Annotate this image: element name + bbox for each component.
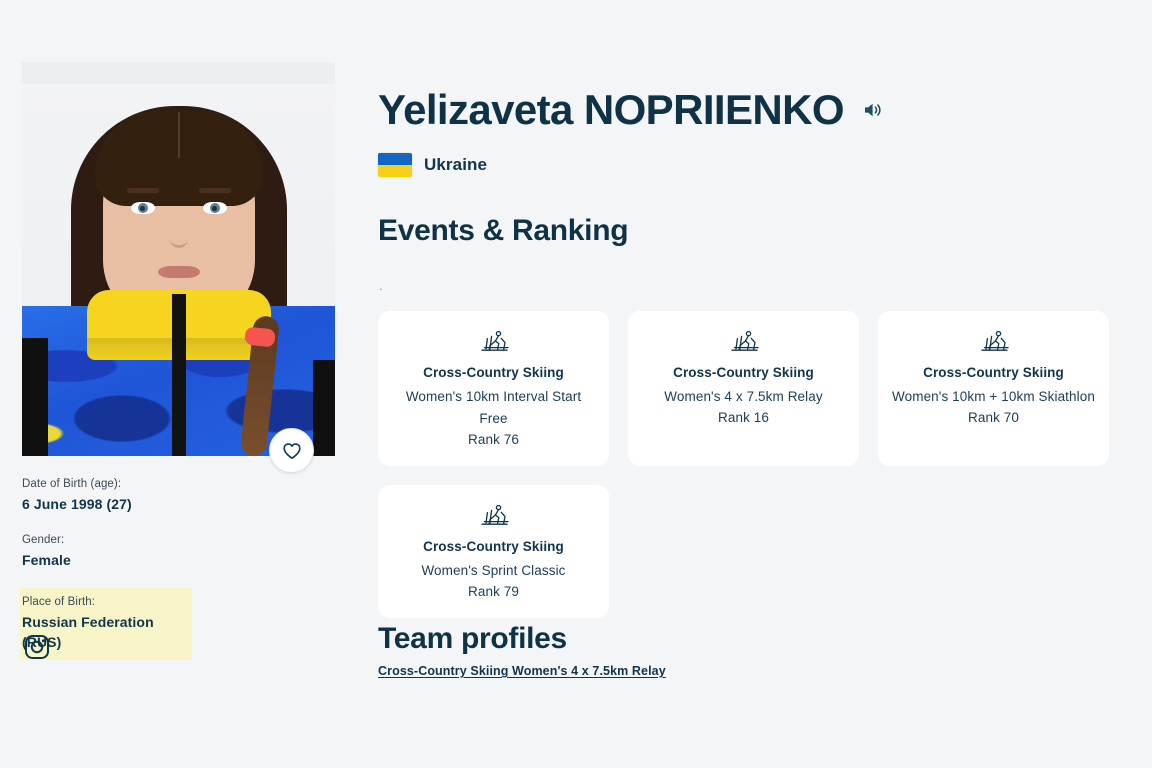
photo-nose <box>170 224 188 248</box>
photo-hair-tie <box>244 326 276 347</box>
bio-field-date-of-birth: Date of Birth (age): 6 June 1998 (27) <box>22 476 322 514</box>
profile-main: Yelizaveta NOPRIIENKO Ukraine Events & R… <box>378 0 1118 768</box>
team-profile-link[interactable]: Cross-Country Skiing Women's 4 x 7.5km R… <box>378 664 666 678</box>
photo-hair-part <box>178 112 180 158</box>
events-section-marker: . <box>379 280 383 292</box>
profile-sidebar: Date of Birth (age): 6 June 1998 (27) Ge… <box>0 0 360 768</box>
cross-country-skiing-icon <box>640 329 847 355</box>
country-name: Ukraine <box>424 155 487 175</box>
cross-country-skiing-icon <box>890 329 1097 355</box>
bio-details: Date of Birth (age): 6 June 1998 (27) Ge… <box>22 476 322 678</box>
country-row: Ukraine <box>378 153 487 177</box>
card-sport: Cross-Country Skiing <box>640 363 847 382</box>
bio-value: Female <box>22 550 322 570</box>
favorite-button[interactable] <box>269 428 314 473</box>
photo-eyebrow-left <box>127 188 159 193</box>
card-rank: Rank 70 <box>890 408 1097 428</box>
card-event-name: Women's 10km Interval Start Free <box>390 386 597 430</box>
page-title: Yelizaveta NOPRIIENKO <box>378 82 844 138</box>
photo-eye-right <box>203 202 227 214</box>
athlete-photo <box>22 84 335 456</box>
card-sport: Cross-Country Skiing <box>890 363 1097 382</box>
athlete-title-row: Yelizaveta NOPRIIENKO <box>378 82 884 138</box>
photo-mouth <box>158 266 200 278</box>
teams-section-title: Team profiles <box>378 622 567 656</box>
events-card-grid: Cross-Country Skiing Women's 10km Interv… <box>378 311 1109 618</box>
card-event-name: Women's 10km + 10km Skiathlon <box>890 386 1097 408</box>
card-rank: Rank 76 <box>390 430 597 450</box>
photo-eyebrow-right <box>199 188 231 193</box>
bio-label: Date of Birth (age): <box>22 476 322 492</box>
card-rank: Rank 16 <box>640 408 847 428</box>
athlete-profile-page: Date of Birth (age): 6 June 1998 (27) Ge… <box>0 0 1152 768</box>
cross-country-skiing-icon <box>390 329 597 355</box>
social-links <box>24 634 50 665</box>
ukraine-flag-icon <box>378 153 412 177</box>
bio-field-gender: Gender: Female <box>22 532 322 570</box>
heart-icon <box>282 442 302 460</box>
photo-shoulder-right <box>313 360 335 456</box>
event-card[interactable]: Cross-Country Skiing Women's 10km + 10km… <box>878 311 1109 466</box>
card-sport: Cross-Country Skiing <box>390 537 597 556</box>
photo-shoulder-left <box>22 338 48 456</box>
event-card[interactable]: Cross-Country Skiing Women's 10km Interv… <box>378 311 609 466</box>
speaker-icon[interactable] <box>862 100 884 125</box>
card-event-name: Women's 4 x 7.5km Relay <box>640 386 847 408</box>
events-section-title: Events & Ranking <box>378 214 628 248</box>
bio-label: Gender: <box>22 532 322 548</box>
bio-value: 6 June 1998 (27) <box>22 494 322 514</box>
event-card[interactable]: Cross-Country Skiing Women's 4 x 7.5km R… <box>628 311 859 466</box>
card-sport: Cross-Country Skiing <box>390 363 597 382</box>
card-rank: Rank 79 <box>390 582 597 602</box>
instagram-icon[interactable] <box>24 634 50 665</box>
photo-eye-left <box>131 202 155 214</box>
photo-jacket-zipper <box>172 294 186 456</box>
event-card[interactable]: Cross-Country Skiing Women's Sprint Clas… <box>378 485 609 618</box>
cross-country-skiing-icon <box>390 503 597 529</box>
card-event-name: Women's Sprint Classic <box>390 560 597 582</box>
bio-label: Place of Birth: <box>22 594 186 610</box>
